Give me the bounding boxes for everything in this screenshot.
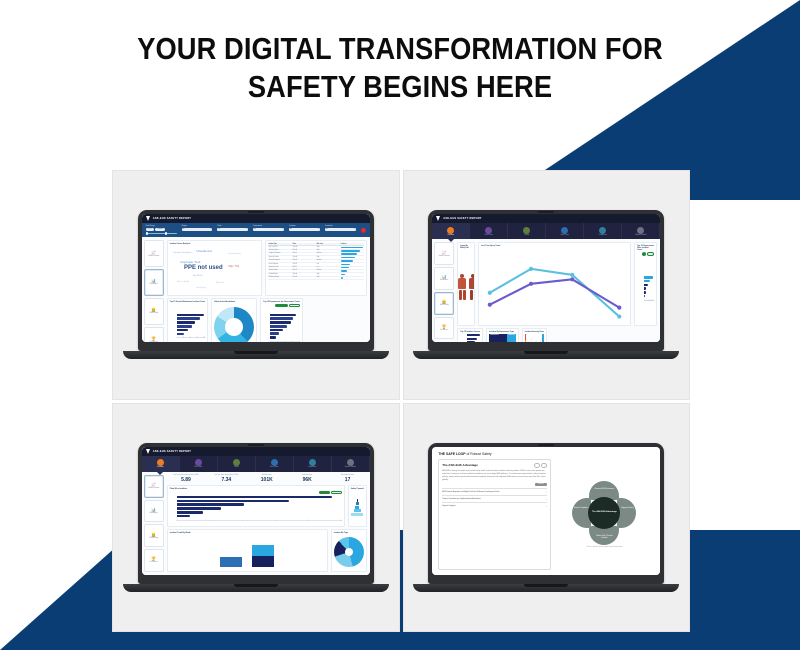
content-row-top: Incident Cause Analysis Unsafe Condition…: [167, 240, 367, 296]
side-rail: 📈 Incident Overview 📊 Risk Analysis 👷: [142, 237, 166, 342]
webcam-notch: [538, 211, 554, 213]
safe-loop-heading: THE SAFE LOOP of Robust Safety: [438, 452, 654, 456]
bar-chart-icon: 📊: [442, 275, 447, 279]
dashboard-body-analytics: ASK-EHS SAFETY REPORT Overview Risk Prof…: [432, 214, 660, 342]
laptop-lid: ASK-EHS SAFETY REPORT Overview Risk Prof…: [138, 443, 374, 584]
card-title: Safety Index Breakdown: [214, 301, 254, 303]
lti-trend-card: Lost Time Injury Trend: [478, 242, 631, 326]
safety-pyramid-card: Safety Pyramid: [348, 485, 367, 528]
dashboard-body: 📈Incident Overview 📊Risk Analysis 👷Worke…: [142, 472, 370, 575]
bar-chart-department-incidents: 020406080: [637, 256, 654, 323]
card-title: Top 10 Departments by Observation Count: [263, 301, 299, 303]
card-title: Plant Wise Incidents: [170, 488, 342, 490]
funnel-logo-icon: [436, 216, 440, 221]
person-icon: 👷: [151, 308, 156, 312]
laptop-mockup-1: ASK-EHS SAFETY REPORT Date Range Y-T-D C…: [138, 210, 374, 359]
incident-trend-card: Incident Trend By Month: [167, 529, 328, 572]
funnel-logo-icon: [146, 216, 150, 221]
showcase-panel-4: THE SAFE LOOP of Robust Safety The ASK-E…: [403, 403, 691, 633]
filter-select: All▾: [253, 228, 284, 231]
card-title: Top 10 Incident Causes: [460, 331, 480, 333]
view-all-button[interactable]: View all: [535, 483, 546, 486]
kpi-total-man-hours: Total Man Hours101K: [248, 475, 286, 483]
filter-department[interactable]: Department All▾: [253, 225, 284, 234]
laptop-lid: ASK-EHS SAFETY REPORT Overview Risk Prof…: [428, 210, 664, 351]
webcam-notch: [538, 444, 554, 446]
advantage-accordion: EHS Domain Expertise and Highly Proficie…: [442, 488, 546, 510]
kpi-recordable-incidents: Recordable Incidents17: [328, 475, 366, 483]
kpi-ltifr: Last Time Injury Frequency Rate (LTIFR)5…: [167, 475, 205, 483]
chevron-right-icon[interactable]: ›: [546, 491, 547, 494]
date-slider[interactable]: [146, 233, 177, 234]
advantage-card: The ASK-EHS Advantage ASK-EHS is among t…: [438, 459, 550, 570]
filter-label: Contractor: [325, 225, 356, 227]
content-row-top: Plant Wise Incidents Incidents Closure: [167, 485, 367, 528]
tab-overview[interactable]: Overview: [142, 456, 180, 472]
rail-item-worker-safety[interactable]: 👷 Worker Safety: [144, 298, 164, 325]
filter-plant[interactable]: Plant All▾: [217, 225, 248, 234]
card-title: Top 10 Unsafe Behaviours Incident Count: [170, 301, 206, 303]
showcase-panel-3: ASK-EHS SAFETY REPORT Overview Risk Prof…: [112, 403, 400, 633]
laptop-screen: ASK-EHS SAFETY REPORT Overview Risk Prof…: [142, 447, 370, 575]
loop-label-measure: Measure EHS Performance: [593, 489, 615, 491]
minus-circle-icon[interactable]: [534, 463, 539, 468]
nav-tabs: Overview Risk Profile Trends Root Cause …: [432, 223, 660, 239]
page-title-line-2: SAFETY BEGINS HERE: [48, 68, 752, 106]
rail-item-risk-analysis[interactable]: 📊Risk Analysis: [434, 267, 454, 290]
kpi-safe-man-hours: Safe Man Hours96K: [288, 475, 326, 483]
card-title: Incident By Department Type: [489, 331, 516, 333]
laptop-lid: THE SAFE LOOP of Robust Safety The ASK-E…: [428, 443, 664, 584]
bar-chart-incident-causes: 0255075100: [460, 334, 480, 342]
rail-item-worker-safety[interactable]: 👷Worker Safety: [434, 292, 454, 315]
page-title-line-1: YOUR DIGITAL TRANSFORMATION FOR: [137, 31, 663, 66]
dashboard-body: 📈 Incident Overview 📊 Risk Analysis 👷: [142, 237, 370, 342]
dashboard-scorecard: ASK-EHS SAFETY REPORT Overview Risk Prof…: [142, 447, 370, 575]
filter-contractor[interactable]: Contractor All▾: [325, 225, 356, 234]
loop-label-engage: Engage & Deploy: [617, 508, 637, 510]
filter-label: Date Range: [146, 225, 177, 227]
trophy-icon: 🏆: [442, 325, 447, 329]
tab-root-cause[interactable]: Root Cause: [546, 223, 584, 239]
alert-badge[interactable]: !: [361, 228, 366, 233]
chart-trend-icon: 📈: [151, 251, 156, 255]
tab-root-cause[interactable]: Root Cause: [256, 456, 294, 472]
incident-table: Incident Type Plant Risk Level Incidents…: [268, 243, 364, 293]
bar-chart-plant-incidents: 0246810: [170, 494, 342, 524]
rail-item-performance[interactable]: 🏆Performance: [144, 549, 164, 572]
safe-loop-heading-bold: THE SAFE LOOP: [438, 452, 465, 456]
plus-circle-icon[interactable]: [541, 463, 546, 468]
bar-chart-unsafe-behaviours: 0255075100: [170, 304, 206, 343]
card-title: Incident Cause Analysis: [170, 243, 259, 245]
safe-loop-body: The ASK-EHS Advantage ASK-EHS is among t…: [438, 459, 654, 570]
unsafe-behaviour-bars-card: Top 10 Unsafe Behaviours Incident Count: [167, 298, 209, 343]
tab-reports-audit[interactable]: Reports & Audit: [622, 223, 660, 239]
laptop-base: [413, 584, 679, 592]
loop-label-monitor: Monitor Risk & Prevent Incidents: [593, 536, 615, 540]
laptop-base: [413, 351, 679, 359]
treemap-chart: Maintenance Production Civil Works Elect…: [489, 334, 516, 342]
bar-chart-icon: 📊: [151, 508, 156, 512]
filter-chips[interactable]: Y-T-D Custom: [146, 228, 177, 231]
chevron-down-icon: ▾: [354, 229, 355, 230]
person-icon: 👷: [442, 300, 447, 304]
incident-table-card: Incident Type Plant Risk Level Incidents…: [265, 240, 367, 296]
rail-item-risk-analysis[interactable]: 📊Risk Analysis: [144, 500, 164, 523]
body-front-view[interactable]: [458, 274, 466, 300]
donut-chart-incident-type: [334, 535, 364, 569]
chevron-right-icon[interactable]: ›: [546, 498, 547, 501]
chip-custom[interactable]: Custom: [155, 228, 165, 231]
laptop-mockup-3: ASK-EHS SAFETY REPORT Overview Risk Prof…: [138, 443, 374, 592]
parallel-coordinates-chart: [525, 334, 544, 342]
body-part-diagram: [460, 250, 472, 323]
safe-loop-diagram: Measure EHS Performance Engage & Deploy …: [555, 459, 655, 570]
dashboard-content: Last Time Injury Frequency Rate (LTIFR)5…: [166, 472, 370, 575]
trend-bar[interactable]: [252, 545, 274, 567]
card-title: Safety Pyramid: [351, 488, 364, 490]
webcam-notch: [248, 444, 264, 446]
chevron-down-icon: ▾: [211, 229, 212, 230]
trend-bar[interactable]: [220, 557, 242, 567]
nav-tabs: Overview Risk Profile Trends Root Cause …: [142, 456, 370, 472]
kpi-strip: Last Time Injury Frequency Rate (LTIFR)5…: [167, 475, 367, 483]
rail-item-incident-overview[interactable]: 📈 Incident Overview: [144, 240, 164, 267]
tab-trends[interactable]: Trends: [508, 223, 546, 239]
laptop-showcase-grid: ASK-EHS SAFETY REPORT Date Range Y-T-D C…: [112, 170, 690, 632]
loop-ring: Measure EHS Performance Engage & Deploy …: [572, 481, 636, 545]
rail-item-worker-safety[interactable]: 👷Worker Safety: [144, 524, 164, 547]
department-incident-card: Top 10 Departments Wise Incident Count ●…: [634, 242, 657, 326]
dashboard-incident-report: ASK-EHS SAFETY REPORT Date Range Y-T-D C…: [142, 214, 370, 342]
filter-region[interactable]: Region All▾: [182, 225, 213, 234]
accordion-item[interactable]: EHS Domain Expertise and Highly Proficie…: [442, 488, 546, 495]
laptop-base: [123, 351, 389, 359]
bar-chart-icon: 📊: [151, 279, 156, 283]
severity-flow-card: Incident Severity Flow: [522, 328, 547, 342]
chevron-right-icon[interactable]: ›: [546, 505, 547, 508]
content-row-bottom: Top 10 Unsafe Behaviours Incident Count: [167, 298, 367, 343]
rail-item-performance[interactable]: 🏆Performance: [434, 317, 454, 340]
chevron-down-icon: ▾: [318, 229, 319, 230]
filter-strip: Date Range Y-T-D Custom Region: [142, 223, 370, 237]
card-title: Injury By Body Part: [460, 245, 472, 249]
chart-trend-icon: 📈: [151, 483, 156, 487]
funnel-chart-safety-pyramid: [351, 491, 364, 525]
card-title: Incident Severity Flow: [525, 331, 544, 333]
anatomy-card: Injury By Body Part: [457, 242, 475, 326]
filter-date-range[interactable]: Date Range Y-T-D Custom: [146, 225, 177, 234]
line-chart-lti-trend: [481, 248, 628, 323]
dashboard-topbar: ASK-EHS SAFETY REPORT: [142, 214, 370, 223]
showcase-panel-2: ASK-EHS SAFETY REPORT Overview Risk Prof…: [403, 170, 691, 400]
filter-select: All▾: [217, 228, 248, 231]
filter-label: Location: [289, 225, 320, 227]
page-title: YOUR DIGITAL TRANSFORMATION FOR SAFETY B…: [48, 30, 752, 106]
safe-loop-page: THE SAFE LOOP of Robust Safety The ASK-E…: [432, 447, 660, 575]
rail-item-incident-overview[interactable]: 📈Incident Overview: [434, 242, 454, 265]
funnel-logo-icon: [146, 449, 150, 454]
side-rail: 📈Incident Overview 📊Risk Analysis 👷Worke…: [432, 239, 456, 342]
loop-note: Click on specific section to get relevan…: [587, 547, 623, 548]
content-row-top: Injury By Body Part: [457, 242, 657, 326]
loop-center-label[interactable]: The ASK-EHS Advantage: [588, 497, 620, 529]
brand-label: ASK-EHS SAFETY REPORT: [153, 450, 191, 453]
brand-label: ASK-EHS SAFETY REPORT: [443, 217, 481, 220]
tab-risk-profile[interactable]: Risk Profile: [180, 456, 218, 472]
body-back-view[interactable]: [469, 274, 475, 300]
chevron-down-icon: ▾: [246, 229, 247, 230]
tab-risk-profile[interactable]: Risk Profile: [470, 223, 508, 239]
treemap-cell[interactable]: Production: [507, 334, 516, 342]
laptop-mockup-2: ASK-EHS SAFETY REPORT Overview Risk Prof…: [428, 210, 664, 359]
laptop-screen: ASK-EHS SAFETY REPORT Overview Risk Prof…: [432, 214, 660, 342]
side-rail: 📈Incident Overview 📊Risk Analysis 👷Worke…: [142, 472, 166, 575]
advantage-card-title: The ASK-EHS Advantage: [442, 463, 478, 467]
rail-item-performance[interactable]: 🏆 Performance: [144, 327, 164, 343]
filter-row: Date Range Y-T-D Custom Region: [146, 225, 366, 234]
tab-compliance[interactable]: Compliance: [584, 223, 622, 239]
safety-index-donut-card: Safety Index Breakdown: [211, 298, 257, 343]
table-row[interactable]: Working at HeightPlant BHigh: [268, 277, 364, 280]
plant-incidents-card: Plant Wise Incidents Incidents Closure: [167, 485, 345, 528]
word-cloud: Unsafe Condition Unsafe Act Housekeeping…: [170, 246, 259, 293]
laptop-screen: ASK-EHS SAFETY REPORT Date Range Y-T-D C…: [142, 214, 370, 342]
treemap-card: Incident By Department Type Maintenance …: [486, 328, 519, 342]
filter-label: Plant: [217, 225, 248, 227]
department-observation-card: Top 10 Departments by Observation Count …: [260, 298, 302, 343]
rail-item-incident-overview[interactable]: 📈Incident Overview: [144, 475, 164, 498]
webcam-notch: [248, 211, 264, 213]
advantage-card-header: The ASK-EHS Advantage: [442, 463, 546, 468]
advantage-paragraph: ASK-EHS is among the world's most truste…: [442, 470, 546, 481]
rail-item-risk-analysis[interactable]: 📊 Risk Analysis: [144, 269, 164, 296]
accordion-item[interactable]: Project Consultancy & Implementation Ass…: [442, 495, 546, 502]
card-title: Lost Time Injury Trend: [481, 245, 628, 247]
bar-chart-departments: 02468: [263, 307, 299, 342]
trophy-icon: 🏆: [151, 337, 156, 341]
chevron-down-icon: ▾: [282, 229, 283, 230]
laptop-mockup-4: THE SAFE LOOP of Robust Safety The ASK-E…: [428, 443, 664, 592]
card-title: Incident By Type: [334, 532, 364, 534]
card-title: Top 10 Departments Wise Incident Count: [637, 245, 654, 251]
tab-compliance[interactable]: Compliance: [294, 456, 332, 472]
tab-reports-audit[interactable]: Reports & Audit: [332, 456, 370, 472]
person-icon: 👷: [151, 533, 156, 537]
incident-type-donut-card: Incident By Type: [331, 529, 367, 572]
donut-chart-safety-index: [214, 304, 254, 343]
chip-ytd[interactable]: Y-T-D: [146, 228, 154, 231]
filter-location[interactable]: Location All▾: [289, 225, 320, 234]
content-row-bottom: Top 10 Incident Causes: [457, 328, 657, 342]
tab-overview[interactable]: Overview: [432, 223, 470, 239]
safe-loop-heading-rest: of Robust Safety: [466, 452, 492, 456]
filter-select: All▾: [289, 228, 320, 231]
laptop-lid: ASK-EHS SAFETY REPORT Date Range Y-T-D C…: [138, 210, 374, 351]
wordcloud-main-term: PPE not used: [184, 265, 223, 271]
dashboard-topbar: ASK-EHS SAFETY REPORT: [432, 214, 660, 223]
kpi-ltisr: Last Time Injury Severity Rate (LTISR)7.…: [207, 475, 245, 483]
poster-canvas: YOUR DIGITAL TRANSFORMATION FOR SAFETY B…: [0, 0, 800, 650]
tab-trends[interactable]: Trends: [218, 456, 256, 472]
dashboard-topbar: ASK-EHS SAFETY REPORT: [142, 447, 370, 456]
filter-label: Region: [182, 225, 213, 227]
dashboard-content: Incident Cause Analysis Unsafe Condition…: [166, 237, 370, 342]
wordcloud-card: Incident Cause Analysis Unsafe Condition…: [167, 240, 262, 296]
laptop-screen: THE SAFE LOOP of Robust Safety The ASK-E…: [432, 447, 660, 575]
filter-select: All▾: [182, 228, 213, 231]
content-row-bottom: Incident Trend By Month: [167, 529, 367, 572]
laptop-base: [123, 584, 389, 592]
card-action-icons[interactable]: [534, 463, 546, 468]
treemap-cell[interactable]: Maintenance: [489, 334, 506, 342]
filter-label: Department: [253, 225, 284, 227]
showcase-panel-1: ASK-EHS SAFETY REPORT Date Range Y-T-D C…: [112, 170, 400, 400]
trophy-icon: 🏆: [151, 557, 156, 561]
brand-label: ASK-EHS SAFETY REPORT: [153, 217, 191, 220]
chart-trend-icon: 📈: [442, 251, 447, 255]
filter-select: All▾: [325, 228, 356, 231]
dashboard-body: 📈Incident Overview 📊Risk Analysis 👷Worke…: [432, 239, 660, 342]
card-title: Incident Trend By Month: [170, 532, 325, 534]
dashboard-content: Injury By Body Part: [456, 239, 660, 342]
incident-cause-card: Top 10 Incident Causes: [457, 328, 483, 342]
accordion-item[interactable]: Superior Support ›: [442, 502, 546, 509]
